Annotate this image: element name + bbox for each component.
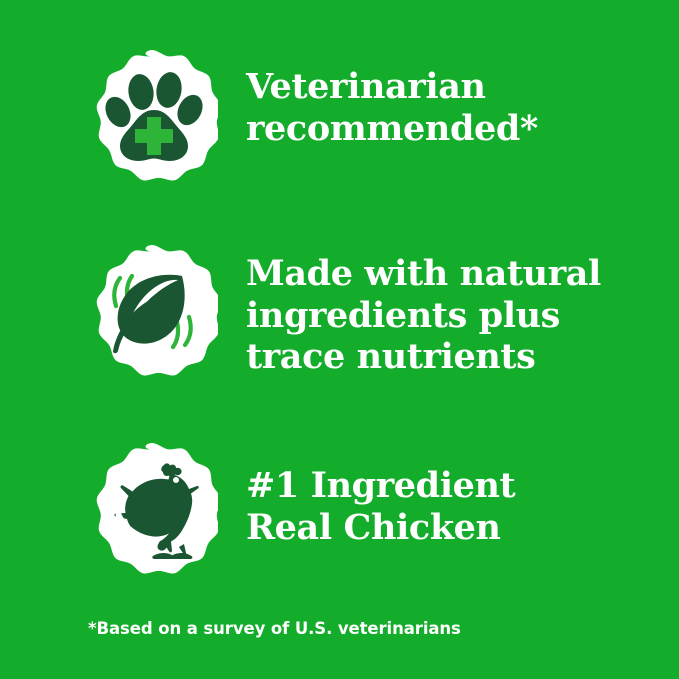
benefits-panel: Veterinarian recommended* [0,0,679,679]
feature-row-veterinarian: Veterinarian recommended* [86,48,538,184]
badge-leaf [86,243,218,379]
feature-row-real-chicken: #1 Ingredient Real Chicken [86,441,515,577]
feature-row-natural-ingredients: Made with natural ingredients plus trace… [86,243,601,379]
feature-label-veterinarian: Veterinarian recommended* [246,48,538,149]
badge-chicken [86,441,218,577]
feature-label-real-chicken: #1 Ingredient Real Chicken [246,441,515,548]
badge-paw-with-cross [86,48,218,184]
feature-label-natural-ingredients: Made with natural ingredients plus trace… [246,243,601,378]
footnote-disclaimer: *Based on a survey of U.S. veterinarians [88,619,461,638]
